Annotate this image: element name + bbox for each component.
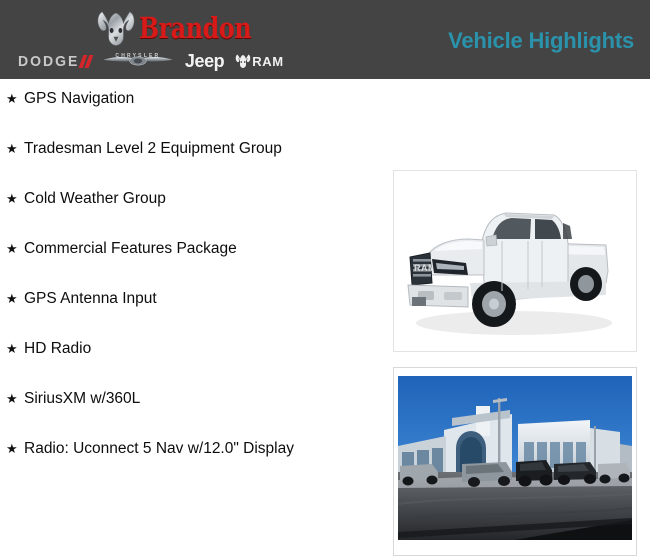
jeep-logo[interactable]: Jeep: [185, 51, 224, 72]
media-column: RAM: [393, 170, 637, 556]
star-bullet-icon: ★: [6, 342, 24, 355]
ram-logo-text: RAM: [252, 54, 283, 69]
vehicle-highlights-list: ★GPS Navigation★Tradesman Level 2 Equipm…: [6, 91, 388, 491]
star-bullet-icon: ★: [6, 192, 24, 205]
highlight-item: ★Radio: Uconnect 5 Nav w/12.0" Display: [6, 441, 388, 491]
star-bullet-icon: ★: [6, 442, 24, 455]
highlight-item-label: GPS Antenna Input: [24, 291, 157, 307]
star-bullet-icon: ★: [6, 392, 24, 405]
highlight-item: ★GPS Antenna Input: [6, 291, 388, 341]
highlight-item-label: SiriusXM w/360L: [24, 391, 140, 407]
page-title: Vehicle Highlights: [448, 28, 634, 54]
star-bullet-icon: ★: [6, 92, 24, 105]
page-header: Brandon DODGE: [0, 0, 650, 79]
dealer-wordmark: Brandon: [96, 9, 276, 47]
highlight-item: ★HD Radio: [6, 341, 388, 391]
vehicle-photo-graphic: RAM: [394, 171, 636, 351]
highlight-item: ★GPS Navigation: [6, 91, 388, 141]
highlight-item-label: HD Radio: [24, 341, 91, 357]
dealership-photo-graphic: [394, 368, 636, 555]
dealership-photo[interactable]: [393, 367, 637, 556]
svg-text:RAM: RAM: [414, 263, 436, 273]
dodge-logo[interactable]: DODGE: [18, 53, 91, 69]
vehicle-photo[interactable]: RAM: [393, 170, 637, 352]
chrysler-logo-text: CHRYSLER: [115, 53, 160, 59]
dealer-logo-block[interactable]: Brandon DODGE: [18, 4, 348, 76]
ram-head-icon: [96, 9, 136, 47]
dodge-logo-text: DODGE: [18, 53, 79, 70]
highlight-item-label: Radio: Uconnect 5 Nav w/12.0" Display: [24, 441, 294, 457]
ram-head-small-icon: [235, 53, 251, 69]
highlight-item: ★Tradesman Level 2 Equipment Group: [6, 141, 388, 191]
dealer-name-text: Brandon: [139, 14, 251, 43]
highlight-item: ★SiriusXM w/360L: [6, 391, 388, 441]
highlight-item-label: Cold Weather Group: [24, 191, 166, 207]
highlight-item-label: Commercial Features Package: [24, 241, 237, 257]
star-bullet-icon: ★: [6, 292, 24, 305]
star-bullet-icon: ★: [6, 142, 24, 155]
highlight-item: ★Commercial Features Package: [6, 241, 388, 291]
star-bullet-icon: ★: [6, 242, 24, 255]
brand-logo-row: DODGE CHRYSLER: [18, 48, 284, 74]
chrysler-logo[interactable]: CHRYSLER: [102, 51, 174, 71]
ram-logo[interactable]: RAM: [235, 53, 283, 69]
dodge-stripes-icon: [81, 55, 91, 68]
content-area: ★GPS Navigation★Tradesman Level 2 Equipm…: [0, 79, 650, 488]
highlight-item-label: GPS Navigation: [24, 91, 134, 107]
highlight-item-label: Tradesman Level 2 Equipment Group: [24, 141, 282, 157]
highlight-item: ★Cold Weather Group: [6, 191, 388, 241]
